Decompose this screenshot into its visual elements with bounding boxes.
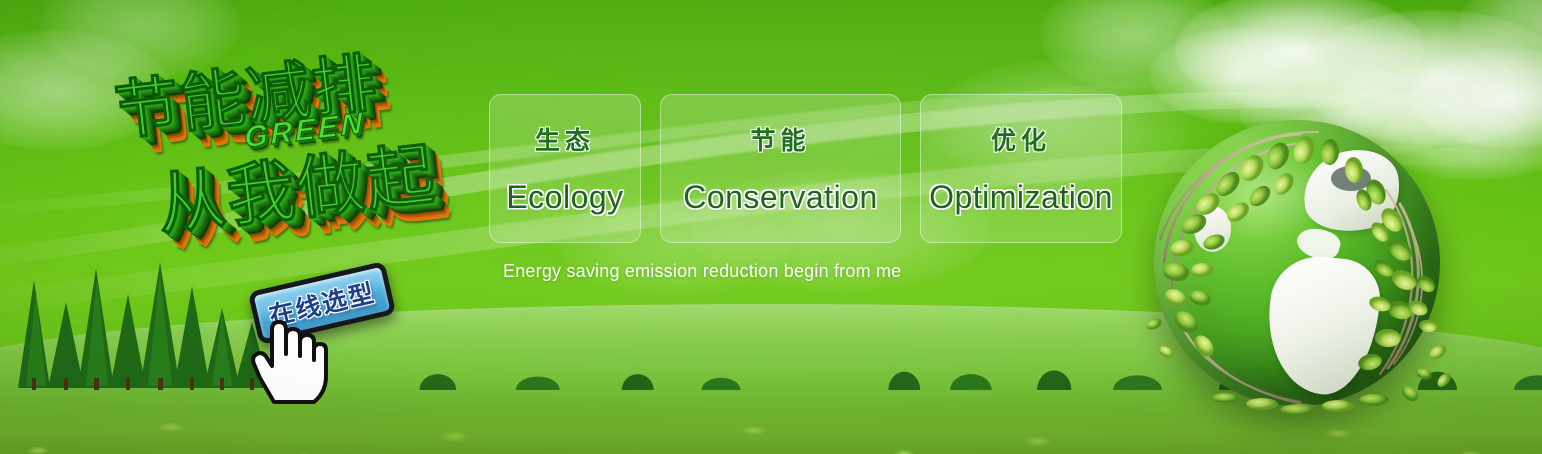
feature-card-cn-label: 节能: [750, 121, 810, 157]
feature-card-list: 生态 Ecology 节能 Conservation 优化 Optimizati…: [489, 94, 1122, 243]
feature-card-en-label: Ecology: [506, 179, 623, 216]
vine-leaves-icon: [1142, 112, 1452, 422]
green-energy-banner: 节能减排 GREEN 从我做起 在线选型 生态 Ecology 节能 Conse…: [0, 0, 1542, 454]
feature-card-cn-label: 生态: [535, 121, 595, 157]
online-selection-cta[interactable]: 在线选型: [252, 272, 432, 392]
feature-card-en-label: Optimization: [929, 179, 1113, 216]
feature-card-ecology[interactable]: 生态 Ecology: [489, 94, 641, 243]
hand-pointer-icon: [244, 314, 330, 404]
feature-card-optimization[interactable]: 优化 Optimization: [920, 94, 1122, 243]
feature-card-en-label: Conservation: [683, 179, 878, 216]
feature-card-cn-label: 优化: [991, 121, 1051, 157]
feature-card-conservation[interactable]: 节能 Conservation: [660, 94, 901, 243]
leafy-globe-icon: [1142, 112, 1452, 422]
tagline-text: Energy saving emission reduction begin f…: [503, 261, 901, 282]
headline-3d-text: 节能减排 GREEN 从我做起: [96, 38, 496, 273]
